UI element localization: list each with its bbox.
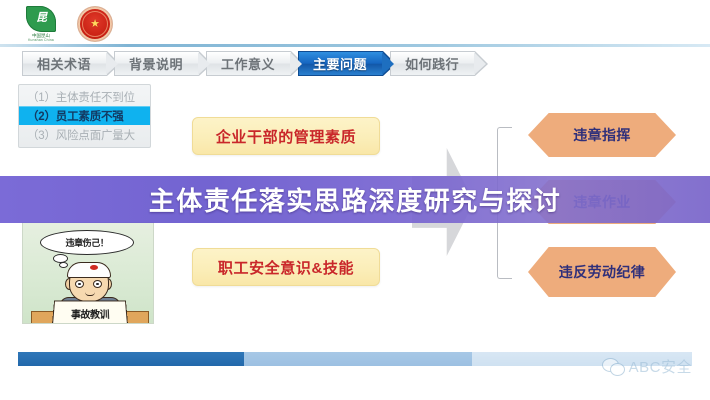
cause-box-1[interactable]: 职工安全意识&技能 (192, 248, 380, 286)
page-title: 主体责任落实思路深度研究与探讨 (149, 181, 562, 218)
watermark: ABC安全 (602, 356, 692, 377)
footer-bar-segment-1 (18, 352, 244, 366)
breadcrumb-item-2[interactable]: 工作意义 (206, 51, 291, 76)
header-divider (0, 44, 710, 47)
kunshan-logo-cn: 中国昆山 (32, 33, 50, 38)
outcome-hex-0[interactable]: 违章指挥 (528, 113, 676, 157)
leaf-mark: 昆 (36, 13, 46, 24)
thought-bubble: 违章伤己！ (40, 230, 134, 255)
outcome-hex-2[interactable]: 违反劳动纪律 (528, 247, 676, 297)
leaf-icon: 昆 (26, 6, 56, 32)
outcome-hex-2-label: 违反劳动纪律 (559, 264, 645, 280)
national-emblem-icon (78, 7, 112, 41)
kunshan-logo-en: Kunshan China (28, 39, 54, 43)
breadcrumb-item-4[interactable]: 如何践行 (390, 51, 475, 76)
paper-text: 事故教训 (71, 306, 110, 321)
cause-box-1-label: 职工安全意识&技能 (218, 257, 354, 278)
logo-row: 昆 中国昆山 Kunshan China (18, 4, 112, 44)
outcome-hex-0-label: 违章指挥 (573, 127, 631, 143)
cartoon-illustration: 违章伤己！ 事故教训 (22, 222, 154, 324)
kunshan-logo-text: 中国昆山 Kunshan China (28, 34, 54, 43)
thought-bubble-dot-small (59, 262, 68, 268)
breadcrumb-item-1[interactable]: 背景说明 (114, 51, 199, 76)
title-banner: 主体责任落实思路深度研究与探讨 (0, 176, 710, 223)
paper-sheet: 事故教训 (52, 301, 128, 324)
wechat-icon (602, 358, 624, 375)
sidebar-list: （1）主体责任不到位 （2）员工素质不强 （3）风险点面广量大 (18, 84, 151, 148)
kunshan-logo: 昆 中国昆山 Kunshan China (18, 4, 64, 44)
breadcrumb-item-3[interactable]: 主要问题 (298, 51, 383, 76)
wechat-bubble-small (610, 363, 625, 376)
slide-canvas: 昆 中国昆山 Kunshan China 相关术语 背景说明 工作意义 主要问题… (0, 0, 710, 400)
cause-box-0-label: 企业干部的管理素质 (216, 126, 356, 147)
sidebar-item-1[interactable]: （2）员工素质不强 (19, 106, 150, 125)
thought-bubble-text: 违章伤己！ (65, 236, 108, 249)
eye-right (93, 280, 102, 288)
sidebar-item-0[interactable]: （1）主体责任不到位 (19, 87, 150, 106)
breadcrumb-item-0[interactable]: 相关术语 (22, 51, 107, 76)
cause-box-0[interactable]: 企业干部的管理素质 (192, 117, 380, 155)
breadcrumb: 相关术语 背景说明 工作意义 主要问题 如何践行 (22, 51, 482, 76)
watermark-text: ABC安全 (629, 356, 692, 377)
bandage-icon (67, 262, 111, 278)
eye-left (75, 280, 84, 288)
sidebar-item-2[interactable]: （3）风险点面广量大 (19, 125, 150, 144)
footer-bar-segment-2 (244, 352, 472, 366)
